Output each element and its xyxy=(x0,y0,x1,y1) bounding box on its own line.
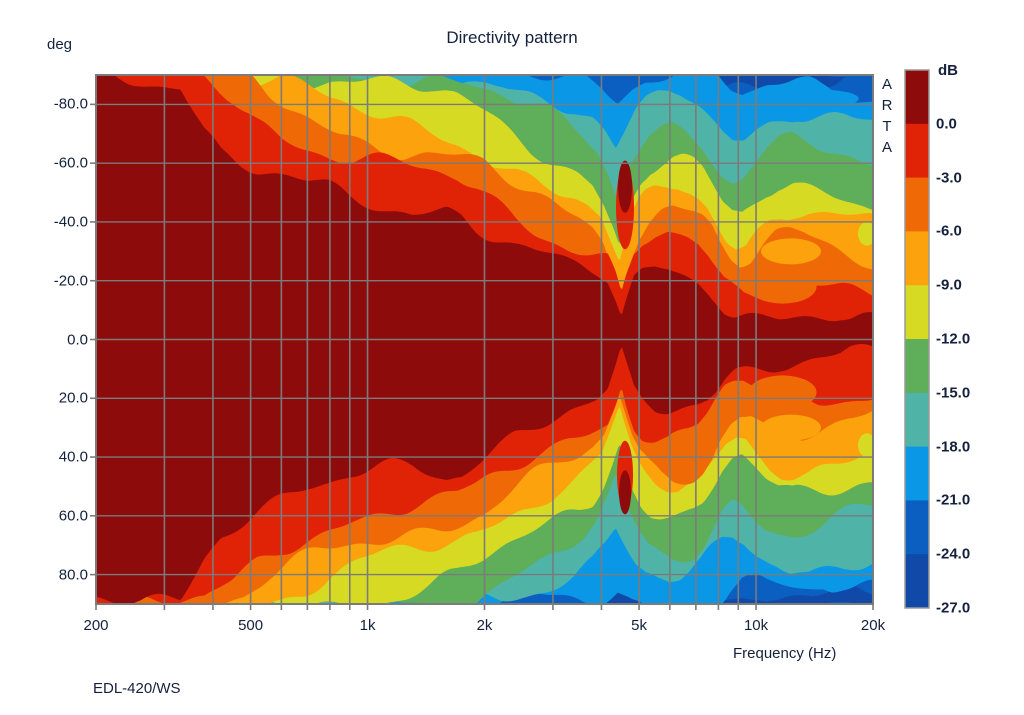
colorbar-band-8 xyxy=(905,500,929,554)
directivity-chart: Directivity pattern deg dB Frequency (Hz… xyxy=(0,0,1024,715)
plot-gridlines xyxy=(96,75,873,604)
lobe-hi-upper xyxy=(749,270,817,304)
colorbar xyxy=(905,70,929,609)
lobe-mid-upper xyxy=(761,238,821,264)
colorbar-band-3 xyxy=(905,231,929,285)
notch-core-lower xyxy=(619,470,631,514)
colorbar-band-4 xyxy=(905,285,929,339)
lobe-mid-lower xyxy=(761,415,821,441)
plot-canvas xyxy=(0,0,1024,715)
lobe-hi-lower xyxy=(749,375,817,409)
colorbar-band-5 xyxy=(905,339,929,393)
notch-core-upper xyxy=(618,161,632,213)
colorbar-band-6 xyxy=(905,393,929,447)
colorbar-band-0 xyxy=(905,70,929,124)
colorbar-band-7 xyxy=(905,447,929,501)
colorbar-band-1 xyxy=(905,124,929,178)
colorbar-band-9 xyxy=(905,554,929,608)
colorbar-band-2 xyxy=(905,178,929,232)
